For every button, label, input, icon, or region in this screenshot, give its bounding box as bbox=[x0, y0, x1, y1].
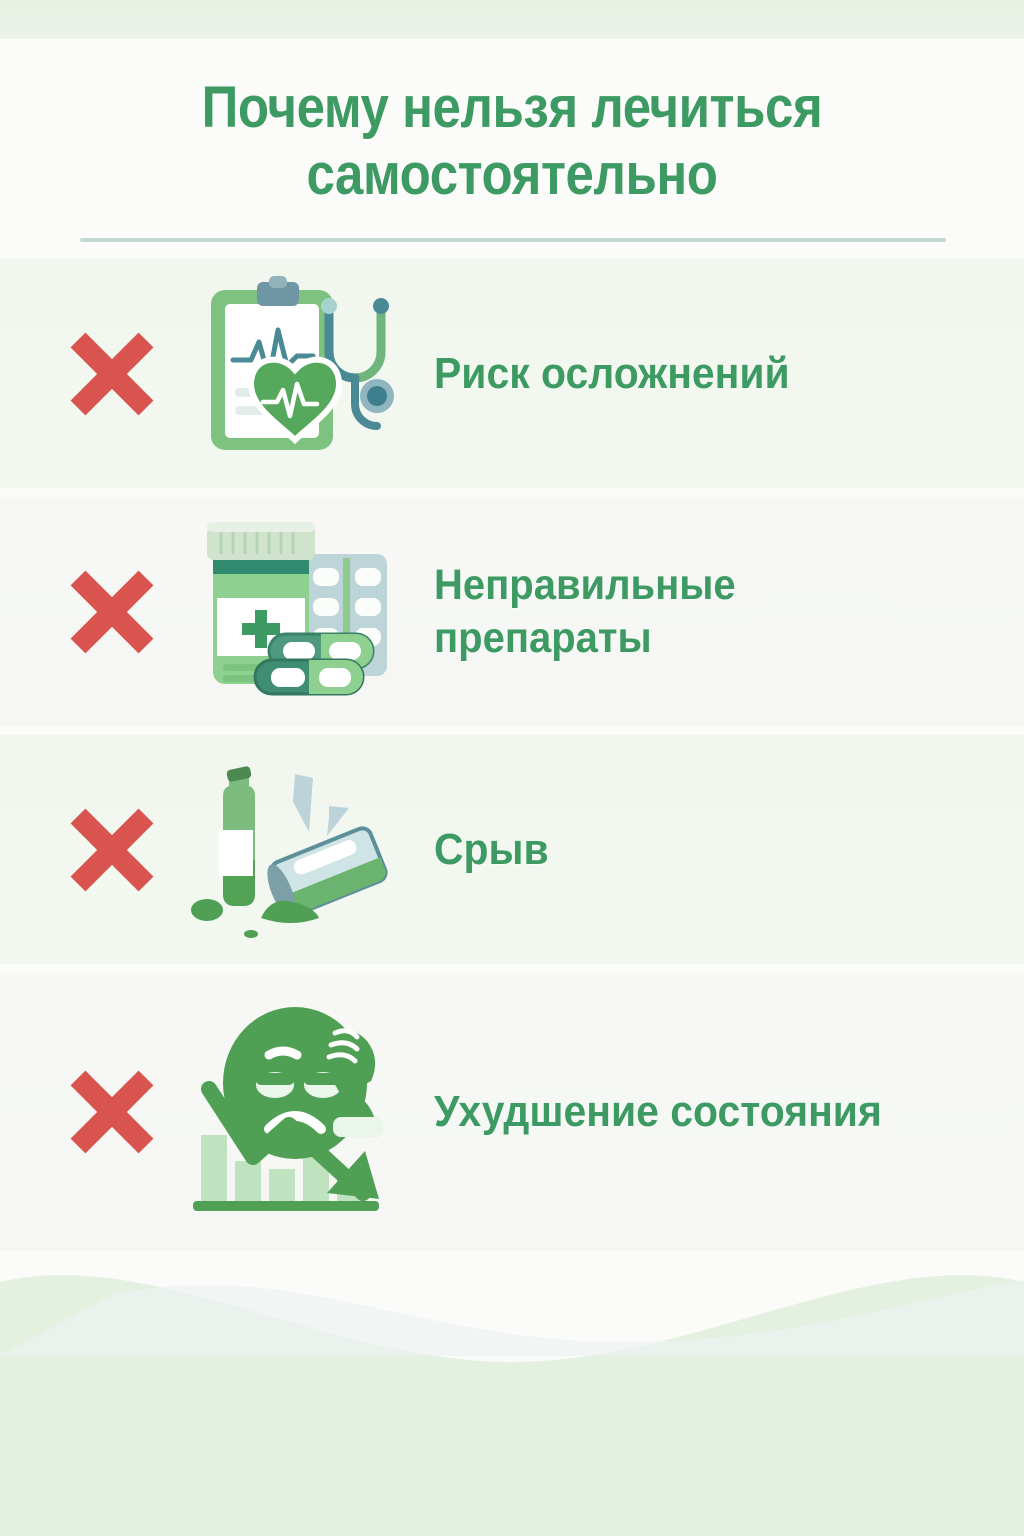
list-item-relapse[interactable]: Срыв bbox=[0, 735, 1024, 964]
list-item-wrong-drugs[interactable]: Неправильные препараты bbox=[0, 497, 1024, 726]
list-item-risk[interactable]: Риск осложнений bbox=[0, 259, 1024, 488]
red-cross-icon bbox=[52, 564, 172, 660]
red-cross-icon bbox=[52, 1064, 172, 1160]
bottle-spilled-glass-icon bbox=[172, 750, 412, 950]
clipboard-heart-stethoscope-icon bbox=[172, 274, 412, 474]
list-item-worsening[interactable]: Ухудшение состояния bbox=[0, 973, 1024, 1251]
top-accent-strip bbox=[0, 0, 1024, 39]
pill-bottle-blister-capsules-icon bbox=[172, 512, 412, 712]
page-title: Почему нельзя лечиться самостоятельно bbox=[61, 74, 962, 209]
sad-face-declining-chart-icon bbox=[172, 997, 412, 1227]
list-item-label: Ухудшение состояния bbox=[434, 1085, 882, 1139]
list-item-label: Риск осложнений bbox=[434, 347, 790, 401]
reasons-list: Риск осложнений bbox=[0, 259, 1024, 1260]
header: Почему нельзя лечиться самостоятельно bbox=[0, 39, 1024, 259]
list-item-label: Неправильные препараты bbox=[434, 559, 736, 664]
red-cross-icon bbox=[52, 802, 172, 898]
list-item-label: Срыв bbox=[434, 823, 549, 877]
bottom-wave-decoration bbox=[0, 1236, 1024, 1536]
infographic-page: Почему нельзя лечиться самостоятельно bbox=[0, 0, 1024, 1536]
title-divider bbox=[80, 238, 946, 242]
page-title-line-1: Почему нельзя лечиться bbox=[61, 74, 962, 141]
page-title-line-2: самостоятельно bbox=[61, 141, 962, 208]
red-cross-icon bbox=[52, 326, 172, 422]
